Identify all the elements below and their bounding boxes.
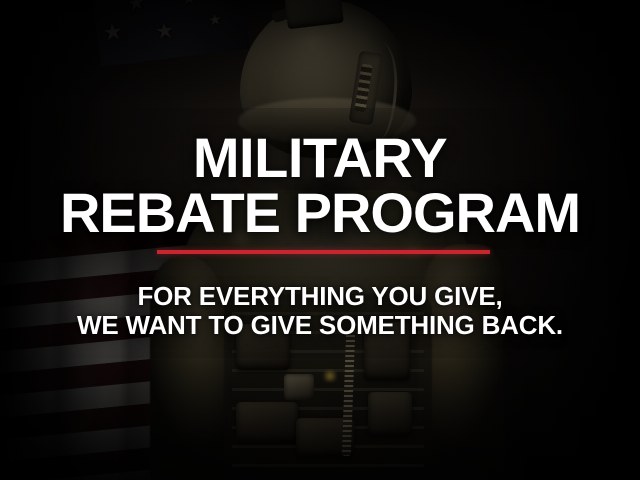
poster-text-content: MILITARY REBATE PROGRAM FOR EVERYTHING Y…	[0, 0, 640, 480]
subtitle-line-1: FOR EVERYTHING YOU GIVE,	[0, 281, 640, 312]
headline-line-1: MILITARY	[0, 131, 640, 186]
red-divider-rule	[157, 250, 490, 254]
military-rebate-program-poster: ★ ★ ★ ★ ★	[0, 0, 640, 480]
headline-line-2: REBATE PROGRAM	[0, 186, 640, 241]
subtitle-line-2: WE WANT TO GIVE SOMETHING BACK.	[0, 310, 640, 341]
